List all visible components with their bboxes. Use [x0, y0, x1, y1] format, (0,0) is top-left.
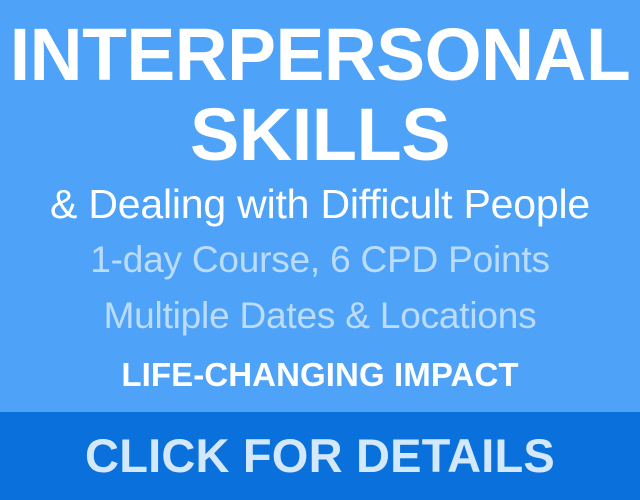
course-detail-duration-cpd: 1-day Course, 6 CPD Points — [0, 240, 640, 280]
headline-line-1: INTERPERSONAL — [3, 18, 637, 92]
advertisement-banner[interactable]: INTERPERSONAL SKILLS & Dealing with Diff… — [0, 0, 640, 500]
cta-button[interactable]: CLICK FOR DETAILS — [0, 412, 640, 500]
headline-line-2: SKILLS — [0, 98, 640, 172]
subheadline: & Dealing with Difficult People — [0, 182, 640, 226]
course-detail-dates-locations: Multiple Dates & Locations — [0, 296, 640, 336]
cta-button-label: CLICK FOR DETAILS — [85, 431, 555, 481]
banner-content-area: INTERPERSONAL SKILLS & Dealing with Diff… — [0, 0, 640, 412]
impact-statement: LIFE-CHANGING IMPACT — [0, 357, 640, 393]
